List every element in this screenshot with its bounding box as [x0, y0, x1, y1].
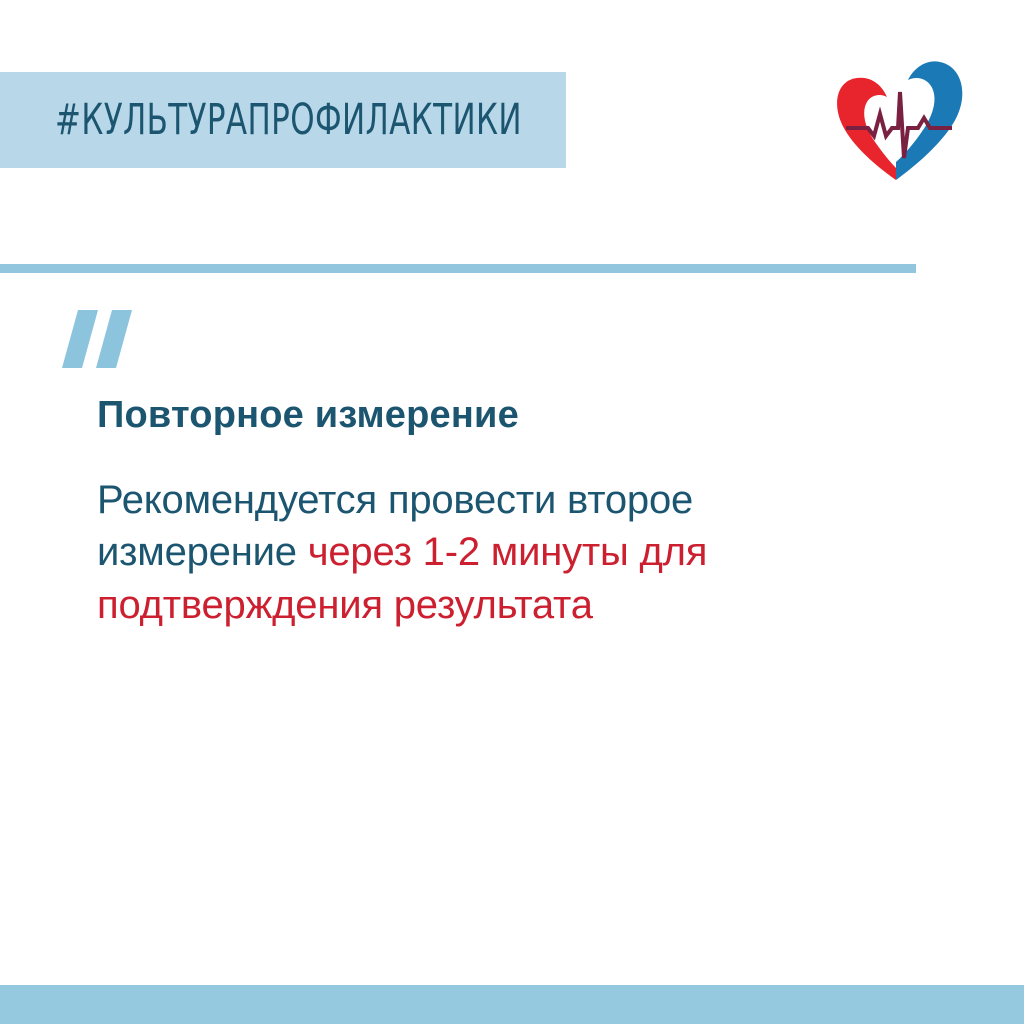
- body-paragraph: Рекомендуется провести второе измерение …: [97, 474, 897, 632]
- logo-blue-lobe: [896, 61, 962, 180]
- hashtag-band: #КУЛЬТУРАПРОФИЛАКТИКИ: [0, 72, 566, 168]
- hashtag-label: #КУЛЬТУРАПРОФИЛАКТИКИ: [55, 95, 522, 145]
- heart-pulse-logo: [822, 52, 970, 184]
- infographic-slide: #КУЛЬТУРАПРОФИЛАКТИКИ Повторное измерени…: [0, 0, 1024, 1024]
- section-divider: [0, 264, 916, 273]
- content-block: Повторное измерение Рекомендуется провес…: [97, 394, 897, 632]
- quote-mark-icon: [60, 310, 146, 368]
- page-title: Повторное измерение: [97, 394, 897, 438]
- footer-band: [0, 985, 1024, 1024]
